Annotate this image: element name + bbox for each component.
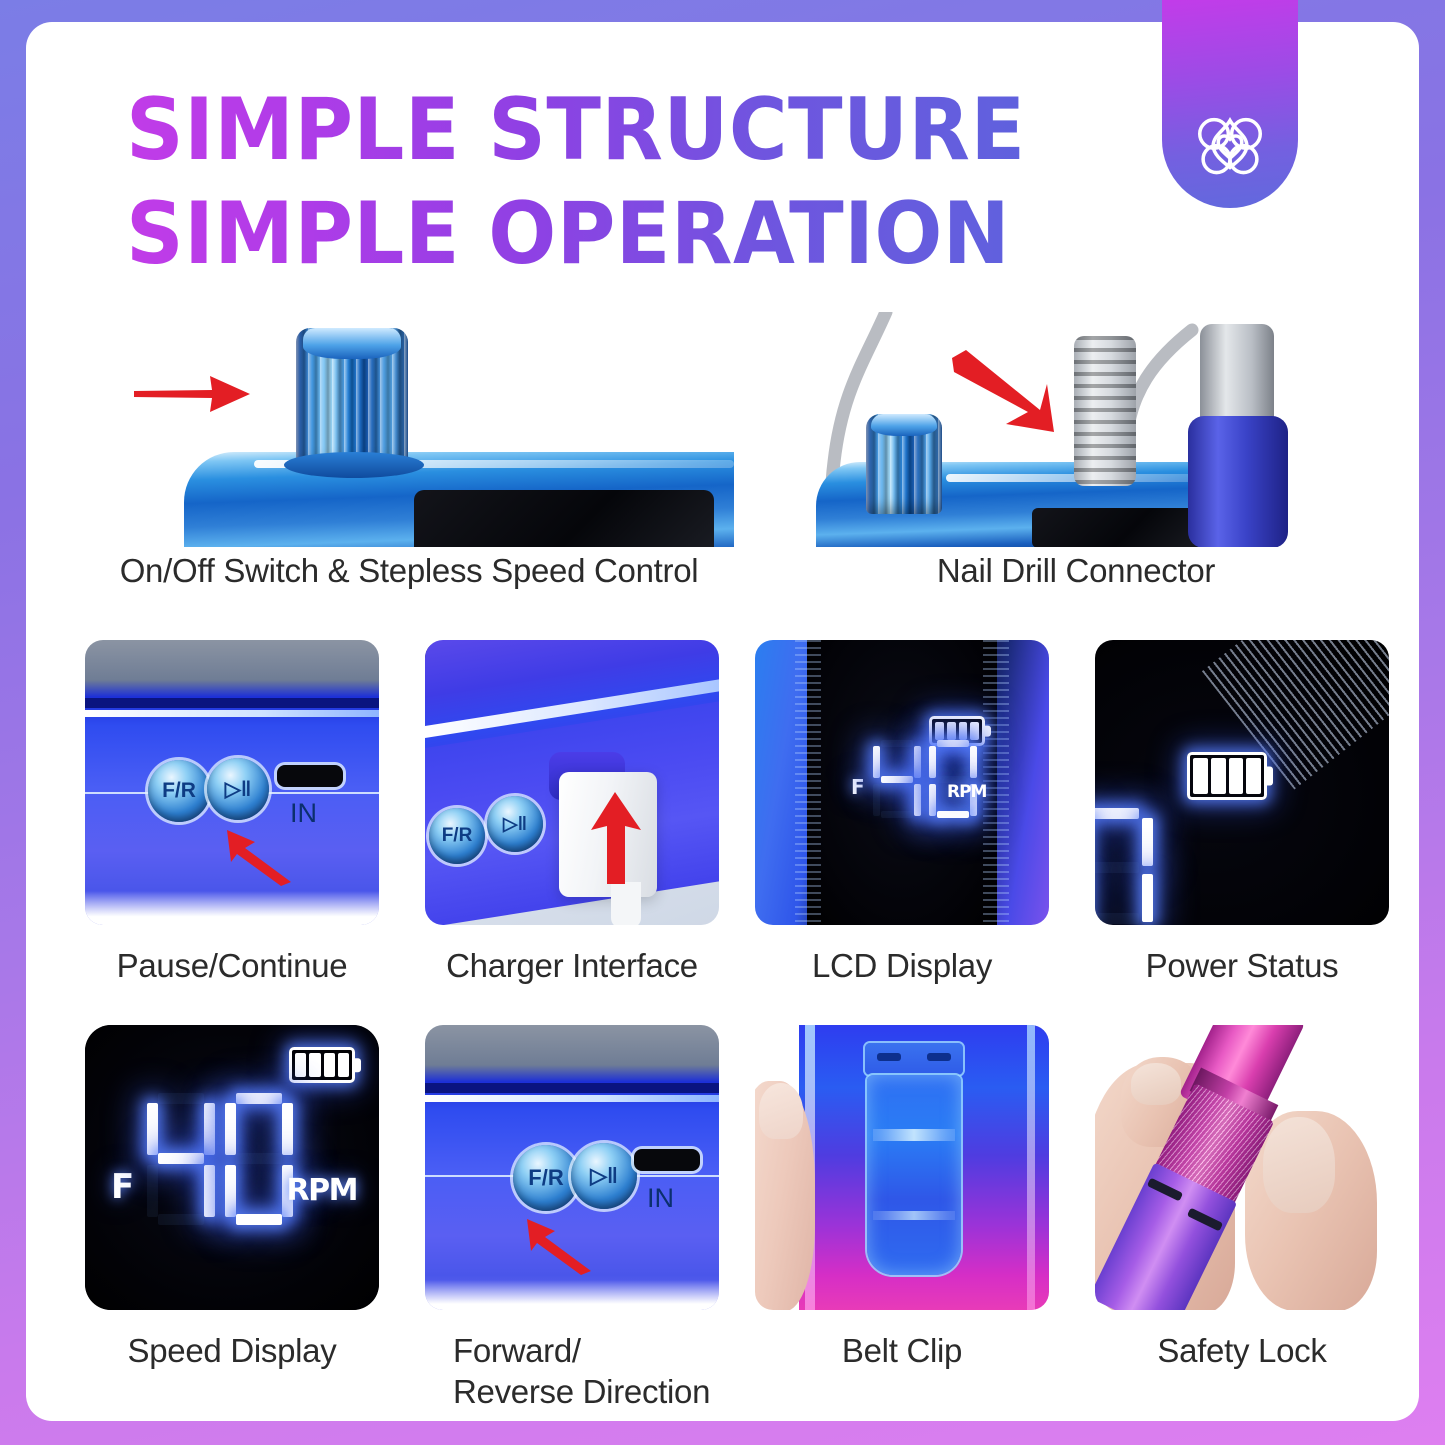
caption-power-status: Power Status bbox=[1095, 945, 1389, 986]
feature-speed-display: F bbox=[85, 1025, 379, 1371]
infographic-page: SIMPLE STRUCTURE SIMPLE OPERATION bbox=[0, 0, 1445, 1445]
feature-pause-continue: F/R ▷‖ IN Pause/Continue bbox=[85, 640, 379, 986]
photo-fade bbox=[85, 891, 379, 925]
forward-reverse-photo: F/R ▷‖ IN bbox=[425, 1025, 719, 1310]
photo-fade bbox=[425, 1280, 719, 1310]
seven-seg-digit-4 bbox=[147, 1093, 215, 1225]
battery-icon bbox=[289, 1047, 355, 1083]
clip-sheen-2 bbox=[873, 1211, 955, 1220]
base-highlight bbox=[946, 474, 1196, 482]
clip-slot-left bbox=[877, 1053, 901, 1061]
fr-button[interactable]: F/R bbox=[148, 760, 210, 822]
title-line-1: SIMPLE STRUCTURE bbox=[126, 78, 1065, 182]
content-card: SIMPLE STRUCTURE SIMPLE OPERATION bbox=[26, 22, 1419, 1421]
feature-row-2: F/R ▷‖ IN Pause/Continue bbox=[26, 640, 1419, 1020]
lcd-unit-label: RPM bbox=[947, 782, 986, 802]
seam-highlight bbox=[85, 710, 379, 717]
usb-c-port[interactable] bbox=[277, 765, 343, 787]
arrow-up-left-icon bbox=[525, 1217, 593, 1275]
play-pause-button-label: ▷‖ bbox=[225, 777, 252, 802]
caption-belt-clip: Belt Clip bbox=[755, 1330, 1049, 1371]
seven-seg-digit-4 bbox=[873, 740, 921, 818]
flower-heart-logo-icon bbox=[1188, 102, 1272, 186]
port-label-in: IN bbox=[647, 1183, 674, 1214]
nail-drill-connector-photo bbox=[796, 312, 1356, 547]
pause-continue-photo: F/R ▷‖ IN bbox=[85, 640, 379, 925]
fr-button[interactable]: F/R bbox=[513, 1145, 579, 1211]
seven-seg-digit-partial bbox=[1095, 808, 1153, 924]
safety-lock-photo bbox=[1095, 1025, 1389, 1310]
play-pause-button-label: ▷‖ bbox=[590, 1163, 618, 1189]
power-status-photo bbox=[1095, 640, 1389, 925]
battery-icon bbox=[1187, 752, 1267, 800]
caption-speed-display: Speed Display bbox=[85, 1330, 379, 1371]
speed-display-photo: F bbox=[85, 1025, 379, 1310]
fr-button-label: F/R bbox=[442, 825, 473, 847]
feature-on-off-switch: On/Off Switch & Stepless Speed Control bbox=[84, 312, 734, 632]
charger-interface-photo: F/R ▷‖ bbox=[425, 640, 719, 925]
speed-knob[interactable] bbox=[296, 328, 408, 468]
caption-line-1: Forward/ bbox=[453, 1330, 719, 1371]
feature-charger-interface: F/R ▷‖ Charger Interface bbox=[425, 640, 719, 986]
fr-button-label: F/R bbox=[162, 779, 196, 803]
knob-base bbox=[284, 452, 424, 478]
lcd-direction-label: F bbox=[851, 775, 865, 799]
lcd-speed-value bbox=[873, 740, 977, 818]
seam-highlight bbox=[425, 1095, 719, 1102]
lcd-unit-label: RPM bbox=[287, 1173, 357, 1208]
play-pause-button[interactable]: ▷‖ bbox=[207, 758, 269, 820]
caption-charger-interface: Charger Interface bbox=[425, 945, 719, 986]
arrow-up-left-icon bbox=[225, 828, 293, 886]
lcd-direction-label: F bbox=[111, 1167, 134, 1207]
caption-forward-reverse: Forward/ Reverse Direction bbox=[425, 1330, 719, 1412]
usb-c-port[interactable] bbox=[634, 1149, 700, 1171]
play-pause-button[interactable]: ▷‖ bbox=[571, 1143, 637, 1209]
feature-power-status: Power Status bbox=[1095, 640, 1389, 986]
belt-clip-photo bbox=[755, 1025, 1049, 1310]
edge-highlight-right bbox=[1027, 1025, 1035, 1310]
handpiece-body bbox=[1188, 416, 1288, 547]
fr-button-label: F/R bbox=[528, 1165, 563, 1191]
on-off-switch-photo bbox=[84, 312, 734, 547]
play-pause-button[interactable]: ▷‖ bbox=[487, 796, 543, 852]
seam-dark bbox=[85, 698, 379, 708]
seven-seg-digit-0 bbox=[929, 740, 977, 818]
connector-plug[interactable] bbox=[1074, 336, 1136, 486]
arrow-right-icon bbox=[132, 370, 252, 418]
fr-button[interactable]: F/R bbox=[429, 808, 485, 864]
seam-dark bbox=[425, 1083, 719, 1093]
speed-knob[interactable] bbox=[866, 414, 942, 514]
lcd-speed-value bbox=[147, 1093, 293, 1225]
feature-belt-clip: Belt Clip bbox=[755, 1025, 1049, 1371]
feature-row-1: On/Off Switch & Stepless Speed Control bbox=[26, 312, 1419, 632]
caption-pause-continue: Pause/Continue bbox=[85, 945, 379, 986]
port-label-in: IN bbox=[290, 798, 317, 829]
feature-forward-reverse: F/R ▷‖ IN Forward/ Reverse Direction bbox=[425, 1025, 719, 1412]
feature-row-3: F bbox=[26, 1025, 1419, 1420]
caption-on-off-switch: On/Off Switch & Stepless Speed Control bbox=[84, 552, 734, 590]
header: SIMPLE STRUCTURE SIMPLE OPERATION bbox=[26, 22, 1419, 312]
shell-edge-left bbox=[795, 640, 821, 925]
caption-line-2: Reverse Direction bbox=[453, 1371, 719, 1412]
fingernail bbox=[759, 1083, 803, 1139]
index-fingernail bbox=[1131, 1063, 1181, 1105]
lcd-window bbox=[414, 490, 714, 547]
feature-lcd-display: F bbox=[755, 640, 1049, 986]
play-pause-button-label: ▷‖ bbox=[503, 813, 527, 836]
title-line-2: SIMPLE OPERATION bbox=[126, 182, 1065, 286]
clip-sheen bbox=[873, 1129, 955, 1141]
page-title: SIMPLE STRUCTURE SIMPLE OPERATION bbox=[126, 78, 1136, 286]
belt-clip-metal[interactable] bbox=[867, 1075, 961, 1275]
arrow-up-icon bbox=[587, 790, 643, 886]
caption-lcd-display: LCD Display bbox=[755, 945, 1049, 986]
feature-safety-lock: Safety Lock bbox=[1095, 1025, 1389, 1371]
shell-edge-right bbox=[983, 640, 1009, 925]
seven-seg-digit-0 bbox=[225, 1093, 293, 1225]
charger-cable bbox=[611, 882, 641, 925]
lcd-display-photo: F bbox=[755, 640, 1049, 925]
feature-nail-drill-connector: Nail Drill Connector bbox=[796, 312, 1356, 632]
clip-slot-right bbox=[927, 1053, 951, 1061]
thumbnail bbox=[1263, 1117, 1335, 1213]
caption-nail-drill-connector: Nail Drill Connector bbox=[796, 552, 1356, 590]
arrow-down-right-icon bbox=[948, 348, 1058, 434]
base-lcd bbox=[1032, 508, 1212, 547]
caption-safety-lock: Safety Lock bbox=[1095, 1330, 1389, 1371]
brand-badge bbox=[1162, 0, 1298, 208]
